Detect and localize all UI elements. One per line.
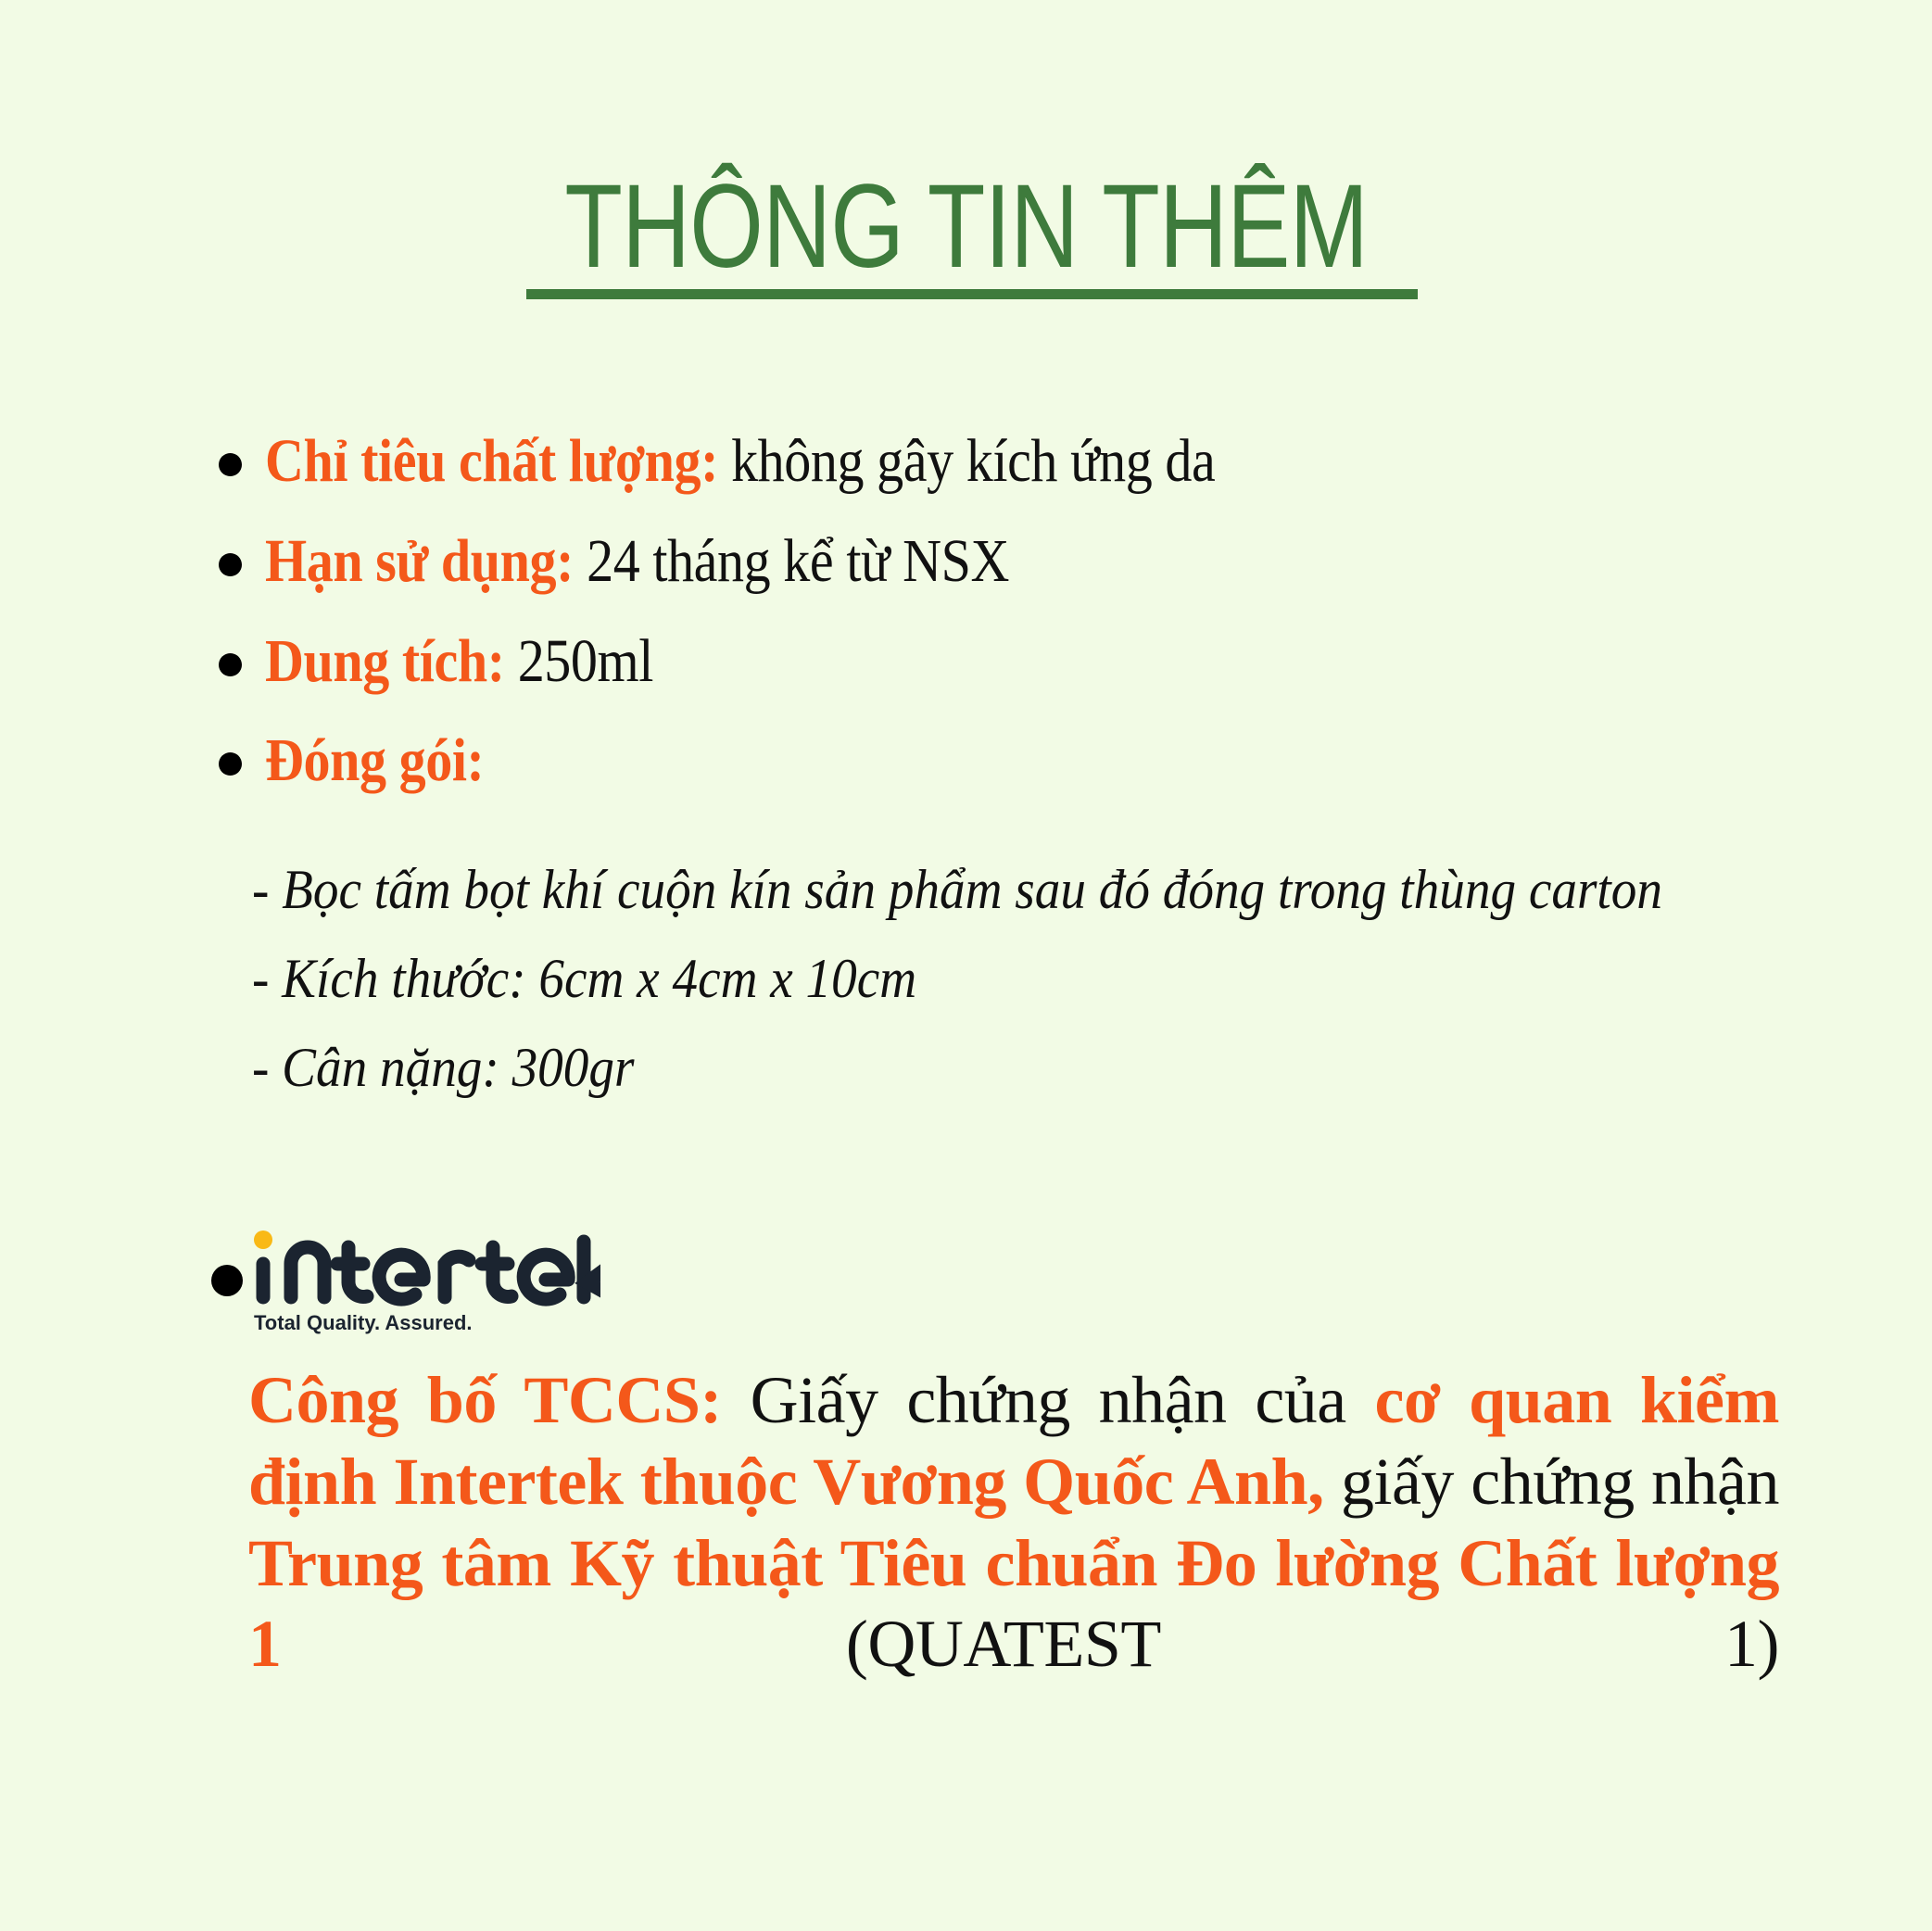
spec-value: không gây kích ứng da bbox=[718, 427, 1215, 495]
bullet-dot-icon bbox=[219, 653, 242, 676]
tccs-segment: (QUATEST 1) bbox=[282, 1607, 1780, 1681]
spec-list: Chỉ tiêu chất lượng: không gây kích ứng … bbox=[211, 422, 1842, 821]
spec-label: Chỉ tiêu chất lượng: bbox=[265, 427, 718, 495]
intertek-logo-svg: Total Quality. Assured. bbox=[211, 1221, 600, 1337]
packaging-detail-item: - Cân nặng: 300gr bbox=[252, 1035, 1809, 1100]
list-item: Đóng gói: bbox=[211, 721, 1842, 801]
intertek-logo: Total Quality. Assured. bbox=[211, 1221, 600, 1337]
tccs-segment: Giấy chứng nhận của bbox=[722, 1363, 1375, 1437]
logo-accent-dot-icon bbox=[254, 1231, 272, 1249]
packaging-detail-item: - Kích thước: 6cm x 4cm x 10cm bbox=[252, 946, 1809, 1011]
packaging-detail-text: - Cân nặng: 300gr bbox=[252, 1035, 634, 1100]
packaging-detail-text: - Bọc tấm bọt khí cuộn kín sản phẩm sau … bbox=[252, 857, 1662, 922]
list-item: Hạn sử dụng: 24 tháng kể từ NSX bbox=[211, 522, 1842, 601]
logo-wordmark-strokes bbox=[263, 1242, 600, 1299]
bullet-dot-icon bbox=[219, 453, 242, 476]
bullet-dot-icon bbox=[219, 553, 242, 576]
spec-label: Đóng gói: bbox=[265, 726, 484, 794]
page-title: THÔNG TIN THÊM bbox=[560, 163, 1371, 291]
list-item: Dung tích: 250ml bbox=[211, 622, 1842, 701]
title-underline bbox=[526, 289, 1418, 299]
bullet-dot-icon bbox=[219, 752, 242, 776]
page-title-wrapper: THÔNG TIN THÊM bbox=[0, 163, 1932, 291]
spec-label: Dung tích: bbox=[265, 627, 505, 695]
spec-value: 24 tháng kể từ NSX bbox=[574, 527, 1009, 595]
logo-dot-icon bbox=[211, 1265, 243, 1296]
spec-value: 250ml bbox=[505, 627, 653, 695]
logo-tagline: Total Quality. Assured. bbox=[254, 1311, 473, 1334]
packaging-detail-list: - Bọc tấm bọt khí cuộn kín sản phẩm sau … bbox=[252, 857, 1809, 1125]
info-page: THÔNG TIN THÊM Chỉ tiêu chất lượng: khôn… bbox=[0, 0, 1932, 1931]
tccs-segment: giấy chứng nhận bbox=[1324, 1445, 1779, 1519]
packaging-detail-text: - Kích thước: 6cm x 4cm x 10cm bbox=[252, 946, 916, 1011]
tccs-segment-label: Công bố TCCS: bbox=[248, 1363, 722, 1437]
tccs-paragraph: Công bố TCCS: Giấy chứng nhận của cơ qua… bbox=[248, 1360, 1779, 1767]
spec-label: Hạn sử dụng: bbox=[265, 527, 574, 595]
packaging-detail-item: - Bọc tấm bọt khí cuộn kín sản phẩm sau … bbox=[252, 857, 1809, 922]
list-item: Chỉ tiêu chất lượng: không gây kích ứng … bbox=[211, 422, 1842, 501]
